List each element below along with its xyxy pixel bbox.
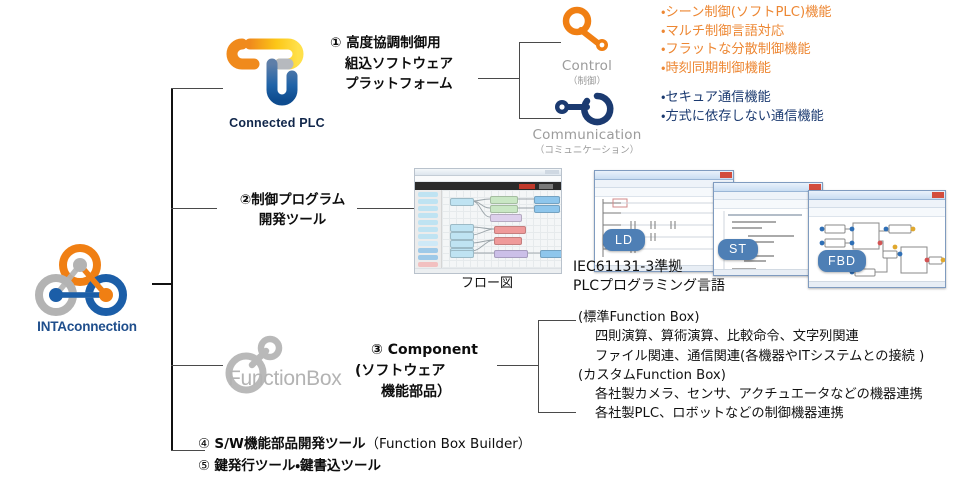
item-5-text: 鍵発行ツール・鍵書込ツール — [214, 458, 381, 474]
branch-line-1 — [171, 88, 223, 89]
branch-line-3 — [171, 365, 223, 366]
ld-badge: LD — [603, 229, 645, 251]
connected-plc-logo: Connected PLC — [222, 22, 332, 134]
palette-item-2[interactable] — [418, 206, 438, 211]
communication-node-icon — [551, 88, 617, 128]
functionbox-caption: FunctionBox — [228, 367, 341, 391]
standard-fb-heading: (標準Function Box) — [578, 308, 958, 327]
item-4-label: ④ S/W機能部品開発ツール（Function Box Builder） — [198, 434, 628, 456]
item-2-line-2: 開発ツール — [205, 210, 380, 230]
item3-branch-top — [538, 320, 576, 321]
functionbox-logo: FunctionBox — [222, 335, 362, 405]
item-1-number: ① — [330, 35, 341, 51]
fbd-window-toolbar — [809, 208, 945, 217]
control-title-ja: （制御） — [532, 73, 642, 87]
flow-node-7[interactable] — [450, 232, 474, 240]
plc-language-caption: IEC61131-3準拠 PLCプログラミング言語 — [573, 258, 823, 296]
communication-title-en: Communication — [532, 127, 641, 143]
flow-canvas[interactable] — [442, 190, 561, 268]
flow-diagram-caption: フロー図 — [414, 272, 560, 291]
control-feature-list: ・シーン制御(ソフトPLC)機能 ・マルチ制御言語対応 ・フラットな分散制御機能… — [661, 4, 832, 79]
flow-editor-screenshot[interactable] — [414, 168, 562, 274]
custom-fb-heading: (カスタムFunction Box) — [578, 366, 958, 385]
intaconnection-logo: INTAconnection — [22, 243, 152, 343]
communication-feature-list: ・セキュア通信機能 ・方式に依存しない通信機能 — [661, 89, 824, 126]
flow-node-11[interactable] — [494, 237, 522, 245]
control-title-en: Control — [562, 58, 612, 74]
item-2-line-1: ②制御プログラム — [205, 190, 380, 210]
item-4-text: S/W機能部品開発ツール — [214, 436, 365, 452]
intaconnection-mark — [22, 243, 152, 323]
control-node-icon — [557, 6, 615, 54]
item-3-label: ③ Component (ソフトウェア 機能部品） — [345, 340, 510, 403]
item1-bracket-spine — [519, 42, 520, 119]
item-5-number: ⑤ — [198, 458, 210, 474]
item-4-number: ④ — [198, 436, 210, 452]
intaconnection-caption: INTAconnection — [22, 319, 152, 334]
item3-bracket-spine — [538, 320, 539, 413]
st-window-toolbar — [714, 200, 822, 209]
flow-node-14[interactable] — [540, 250, 562, 258]
main-spine-line — [171, 88, 173, 450]
communication-node-label: Communication （コミュニケーション） — [512, 124, 662, 156]
fbd-badge: FBD — [818, 250, 866, 272]
palette-item-3[interactable] — [418, 213, 438, 218]
custom-fb-line-2: 各社製PLC、ロボットなどの制御機器連携 — [578, 404, 958, 423]
palette-item-6[interactable] — [418, 234, 438, 239]
item-1-label: ① 高度協調制御用 組込ソフトウェア プラットフォーム — [330, 33, 480, 95]
item3-branch-bottom — [538, 412, 576, 413]
fbd-window-titlebar — [809, 191, 945, 200]
flow-node-12[interactable] — [450, 250, 474, 258]
item-1-line-3: プラットフォーム — [330, 74, 480, 95]
item-5-label: ⑤ 鍵発行ツール・鍵書込ツール — [198, 456, 628, 478]
item1-branch-control — [519, 42, 561, 43]
fbd-window-menubar — [809, 200, 945, 208]
item-2-label: ②制御プログラム 開発ツール — [205, 190, 380, 231]
flow-node-1[interactable] — [490, 196, 518, 204]
standard-fb-line-1: 四則演算、算術演算、比較命令、文字列関連 — [578, 327, 958, 346]
flow-node-2[interactable] — [490, 205, 518, 213]
communication-bullet-2: ・方式に依存しない通信機能 — [661, 108, 824, 127]
st-window-menubar — [714, 192, 822, 200]
connected-plc-mark — [222, 22, 332, 114]
control-node-label: Control （制御） — [532, 55, 642, 87]
flow-editor-header — [415, 182, 561, 190]
standard-fb-line-2: ファイル関連、通信関連(各機器やITシステムとの接続 ) — [578, 347, 958, 366]
palette-item-8[interactable] — [418, 248, 438, 253]
control-node-glyph — [557, 6, 615, 54]
st-badge: ST — [718, 239, 758, 260]
flow-node-13[interactable] — [494, 250, 528, 258]
palette-item-7[interactable] — [418, 241, 438, 246]
flow-node-4[interactable] — [534, 196, 560, 204]
item-3-line-2: (ソフトウェア — [345, 361, 510, 382]
flow-window-titlebar — [415, 169, 561, 176]
item-4-paren: （Function Box Builder） — [365, 436, 531, 452]
palette-item-1[interactable] — [418, 199, 438, 204]
item-1-line-2: 組込ソフトウェア — [330, 54, 480, 75]
palette-item-9[interactable] — [418, 255, 438, 260]
communication-bullet-1: ・セキュア通信機能 — [661, 89, 824, 108]
item-1-line-1: ① 高度協調制御用 — [330, 33, 480, 54]
palette-item-10[interactable] — [418, 262, 438, 267]
item-4-5-labels: ④ S/W機能部品開発ツール（Function Box Builder） ⑤ 鍵… — [198, 434, 628, 478]
component-detail-list: (標準Function Box) 四則演算、算術演算、比較命令、文字列関連 ファ… — [578, 308, 958, 424]
control-bullet-1: ・シーン制御(ソフトPLC)機能 — [661, 4, 832, 23]
palette-item-5[interactable] — [418, 227, 438, 232]
item-1-text-1: 高度協調制御用 — [346, 35, 441, 51]
flow-node-8[interactable] — [450, 240, 474, 248]
root-stem-line — [152, 283, 172, 285]
control-bullet-4: ・時刻同期制御機能 — [661, 60, 832, 79]
flow-node-palette[interactable] — [415, 190, 442, 268]
item-3-line-1: ③ Component — [345, 340, 510, 361]
control-bullet-3: ・フラットな分散制御機能 — [661, 41, 832, 60]
control-bullet-2: ・マルチ制御言語対応 — [661, 23, 832, 42]
flow-editor-body — [415, 190, 561, 268]
custom-fb-line-1: 各社製カメラ、センサ、アクチュエータなどの機器連携 — [578, 385, 958, 404]
palette-item-4[interactable] — [418, 220, 438, 225]
communication-title-ja: （コミュニケーション） — [512, 142, 662, 156]
item1-stem-line — [478, 78, 520, 79]
flow-node-0[interactable] — [450, 198, 474, 206]
fbd-editor-window[interactable] — [808, 190, 946, 288]
plc-caption-line-1: IEC61131-3準拠 — [573, 258, 823, 277]
connected-plc-caption: Connected PLC — [210, 116, 344, 130]
flow-node-6[interactable] — [450, 224, 474, 232]
communication-node-glyph — [551, 88, 617, 128]
palette-item-0[interactable] — [418, 192, 438, 197]
plc-caption-line-2: PLCプログラミング言語 — [573, 277, 823, 296]
st-window-titlebar — [714, 183, 822, 192]
flow-node-3[interactable] — [490, 214, 522, 222]
flow-node-5[interactable] — [534, 205, 560, 213]
item-3-line-3: 機能部品） — [345, 382, 510, 403]
flow-node-10[interactable] — [494, 226, 526, 234]
ld-window-titlebar — [595, 171, 733, 180]
